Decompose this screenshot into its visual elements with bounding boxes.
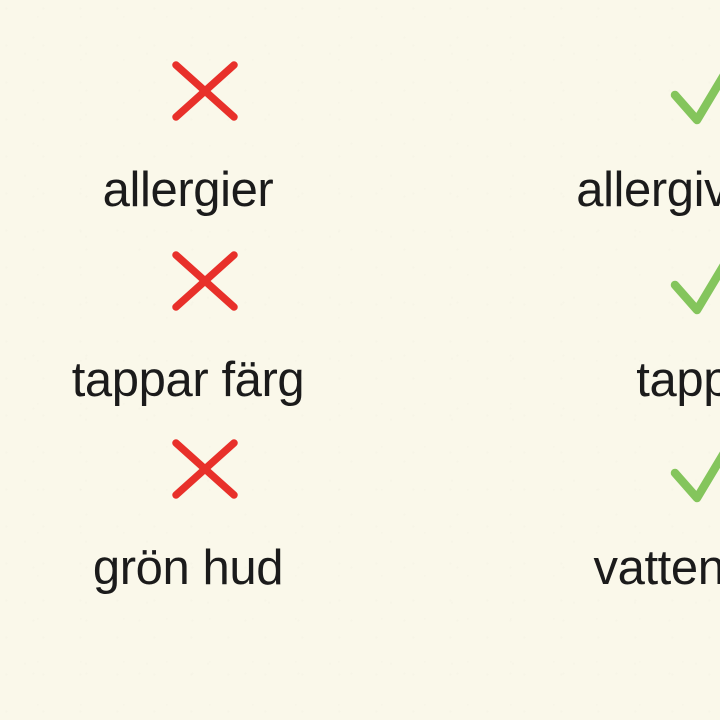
positive-label-slot: tappfri: [636, 346, 720, 414]
positive-label: tappfri: [636, 354, 720, 407]
negative-label: tappar färg: [72, 354, 305, 407]
check-mark-icon: [671, 250, 720, 336]
positive-label-slot: allergivänlig: [576, 156, 720, 224]
comparison-row: allergier allergivänlig: [0, 60, 720, 250]
negative-label-slot: grön hud: [93, 534, 283, 602]
positive-label: allergivänlig: [576, 164, 720, 217]
check-mark-icon: [671, 438, 720, 524]
check-mark-icon: [671, 60, 720, 146]
negative-label-slot: tappar färg: [72, 346, 305, 414]
positive-item: tappfri: [360, 250, 720, 440]
positive-label-slot: vattentålig: [594, 534, 720, 602]
negative-item: allergier: [0, 60, 360, 250]
cross-x-icon: [171, 60, 239, 146]
positive-item: allergivänlig: [360, 60, 720, 250]
cross-x-icon: [171, 438, 239, 524]
negative-item: tappar färg: [0, 250, 360, 440]
negative-label: grön hud: [93, 542, 283, 595]
comparison-row: tappar färg tappfri: [0, 250, 720, 440]
comparison-rows: allergier allergivänlig: [0, 0, 720, 720]
comparison-row: grön hud vattentålig: [0, 438, 720, 628]
comparison-board: allergier allergivänlig: [0, 0, 720, 720]
negative-item: grön hud: [0, 438, 360, 628]
negative-label: allergier: [103, 164, 274, 217]
negative-label-slot: allergier: [103, 156, 274, 224]
positive-label: vattentålig: [594, 542, 720, 595]
cross-x-icon: [171, 250, 239, 336]
positive-item: vattentålig: [360, 438, 720, 628]
